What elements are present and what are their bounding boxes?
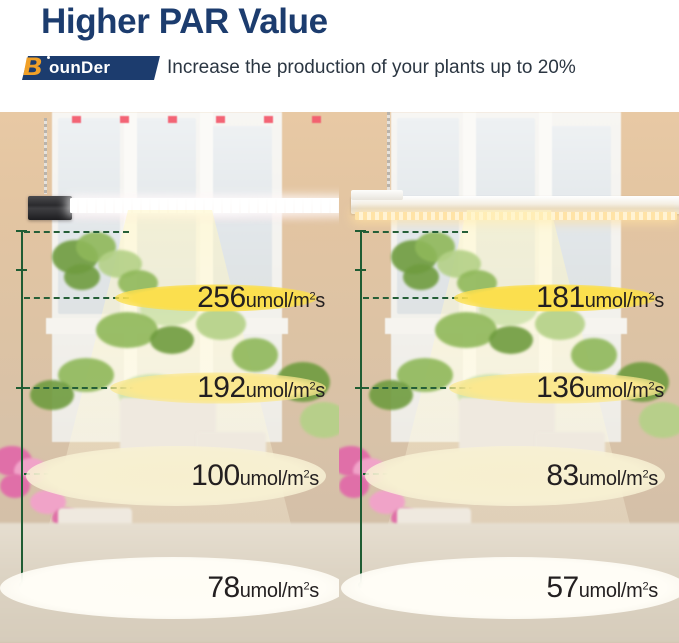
brand-tagline-row: B ounDer Increase the production of your… [22, 55, 576, 81]
par-label: 136umol/m2s [536, 373, 664, 403]
par-label: 256umol/m2s [197, 283, 325, 313]
par-reading: 256umol/m2s [110, 280, 325, 316]
logo-wordmark: ounDer [49, 58, 110, 77]
par-unit: umol/m2s [246, 291, 325, 311]
foliage [435, 312, 497, 348]
foliage [150, 326, 194, 354]
logo-dot-icon [47, 56, 50, 59]
par-value: 181 [536, 283, 585, 313]
par-reading: 192umol/m2s [110, 370, 325, 406]
foliage [30, 380, 74, 410]
par-value: 136 [536, 373, 585, 403]
bounder-logo: B ounDer [22, 55, 154, 81]
strip-light-end-cap [351, 190, 403, 200]
black-led-bar-housing [28, 196, 72, 220]
warm-white-led-diodes [355, 212, 677, 220]
par-reading: 57umol/m2s [453, 568, 658, 608]
par-reading: 83umol/m2s [453, 456, 658, 496]
par-reading: 136umol/m2s [449, 370, 664, 406]
par-value: 57 [546, 573, 578, 603]
comparison-photo-area: 256umol/m2s 192umol/m2s 100umol/m2s 78um… [0, 112, 679, 643]
par-label: 83umol/m2s [546, 461, 658, 491]
page-title: Higher PAR Value [41, 2, 328, 42]
foliage [96, 312, 158, 348]
logo-initial: B [23, 55, 41, 80]
par-reading: 78umol/m2s [104, 568, 319, 608]
par-value: 78 [207, 573, 239, 603]
led-strip-white-diodes [70, 198, 340, 213]
par-label: 181umol/m2s [536, 283, 664, 313]
par-label: 57umol/m2s [546, 573, 658, 603]
foliage [369, 380, 413, 410]
par-value: 256 [197, 283, 246, 313]
header: Higher PAR Value B ounDer Increase the p… [0, 0, 679, 112]
foliage [639, 402, 679, 438]
foliage [489, 326, 533, 354]
par-unit: umol/m2s [585, 291, 664, 311]
par-value: 100 [191, 461, 240, 491]
par-label: 78umol/m2s [207, 573, 319, 603]
foliage [571, 338, 617, 372]
led-strip-red-diodes [72, 116, 340, 123]
par-value: 83 [546, 461, 578, 491]
par-unit: umol/m2s [240, 581, 319, 601]
hanging-chain [44, 118, 47, 194]
par-label: 100umol/m2s [191, 461, 319, 491]
panel-left-bounder-light: 256umol/m2s 192umol/m2s 100umol/m2s 78um… [0, 112, 340, 643]
foliage [232, 338, 278, 372]
par-reading: 100umol/m2s [104, 456, 319, 496]
hanging-chain [387, 112, 390, 196]
tagline: Increase the production of your plants u… [167, 57, 576, 79]
par-reading: 181umol/m2s [449, 280, 664, 316]
par-label: 192umol/m2s [197, 373, 325, 403]
par-unit: umol/m2s [240, 469, 319, 489]
infographic-page: Higher PAR Value B ounDer Increase the p… [0, 0, 679, 643]
par-value: 192 [197, 373, 246, 403]
par-unit: umol/m2s [579, 469, 658, 489]
foliage [64, 264, 100, 290]
foliage [403, 264, 439, 290]
panel-right-ordinary-light: 181umol/m2s 136umol/m2s 83umol/m2s 57umo… [339, 112, 679, 643]
par-unit: umol/m2s [585, 381, 664, 401]
par-unit: umol/m2s [579, 581, 658, 601]
foliage [300, 402, 340, 438]
par-unit: umol/m2s [246, 381, 325, 401]
